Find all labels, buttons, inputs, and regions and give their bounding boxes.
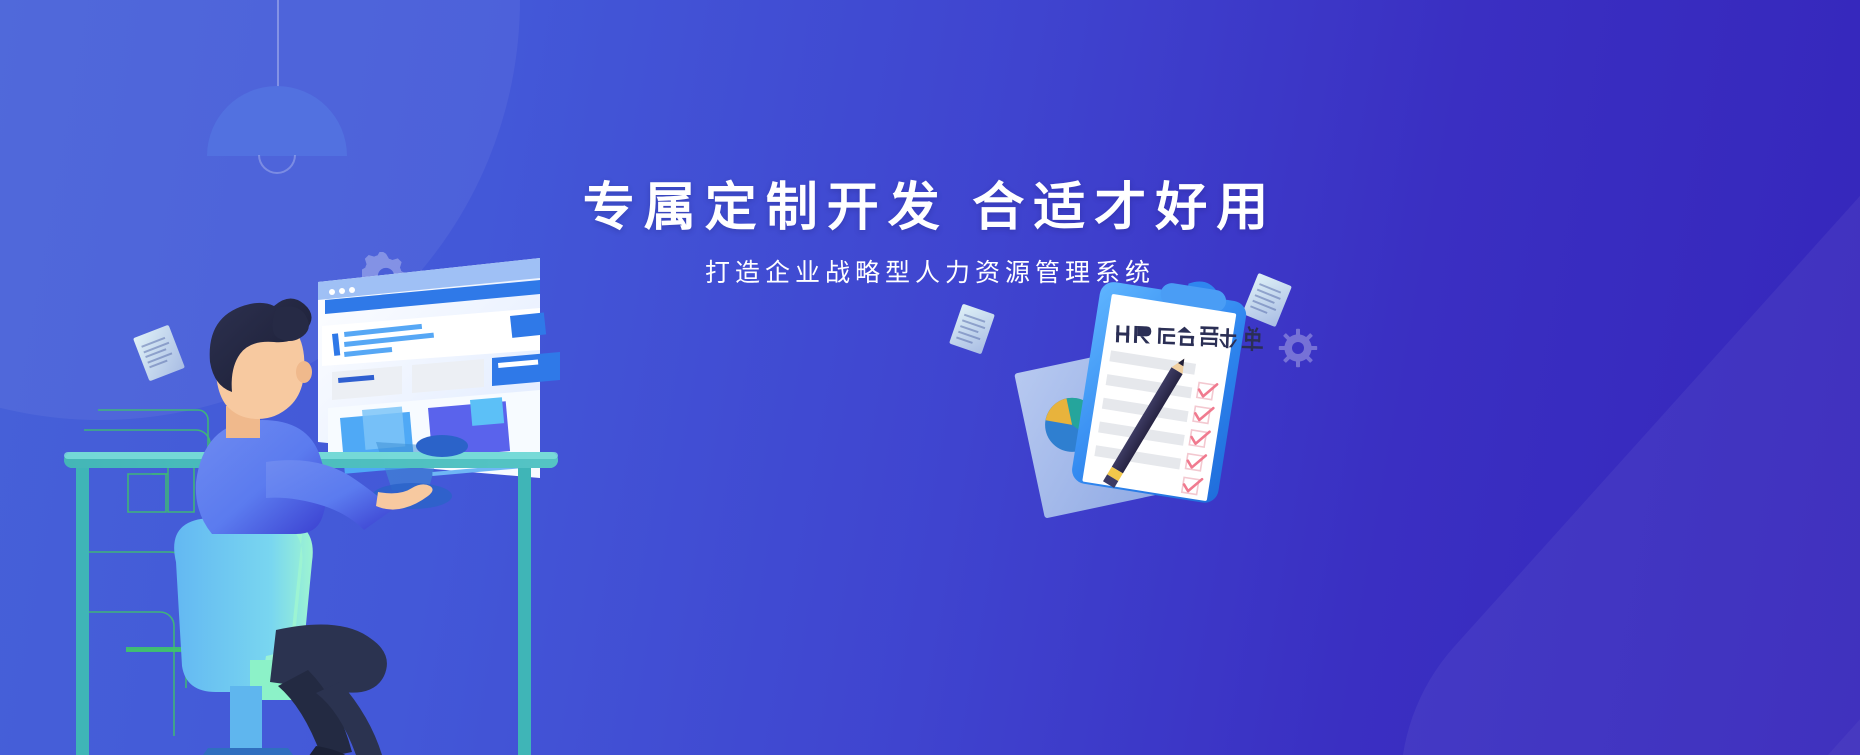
page-subtitle: 打造企业战略型人力资源管理系统	[0, 253, 1860, 289]
page-title: 专属定制开发 合适才好用	[0, 178, 1860, 239]
background-diagonal-shape-bottom-right	[1314, 0, 1860, 755]
banner-text-block: 专属定制开发 合适才好用 打造企业战略型人力资源管理系统	[0, 178, 1860, 289]
floating-paper-middle-icon	[949, 304, 995, 355]
hr-requirements-clipboard-illustration	[990, 272, 1290, 522]
hero-banner: 专属定制开发 合适才好用 打造企业战略型人力资源管理系统	[0, 0, 1860, 755]
lamp-cord-icon	[277, 0, 279, 88]
developer-at-desk-illustration	[40, 230, 580, 755]
